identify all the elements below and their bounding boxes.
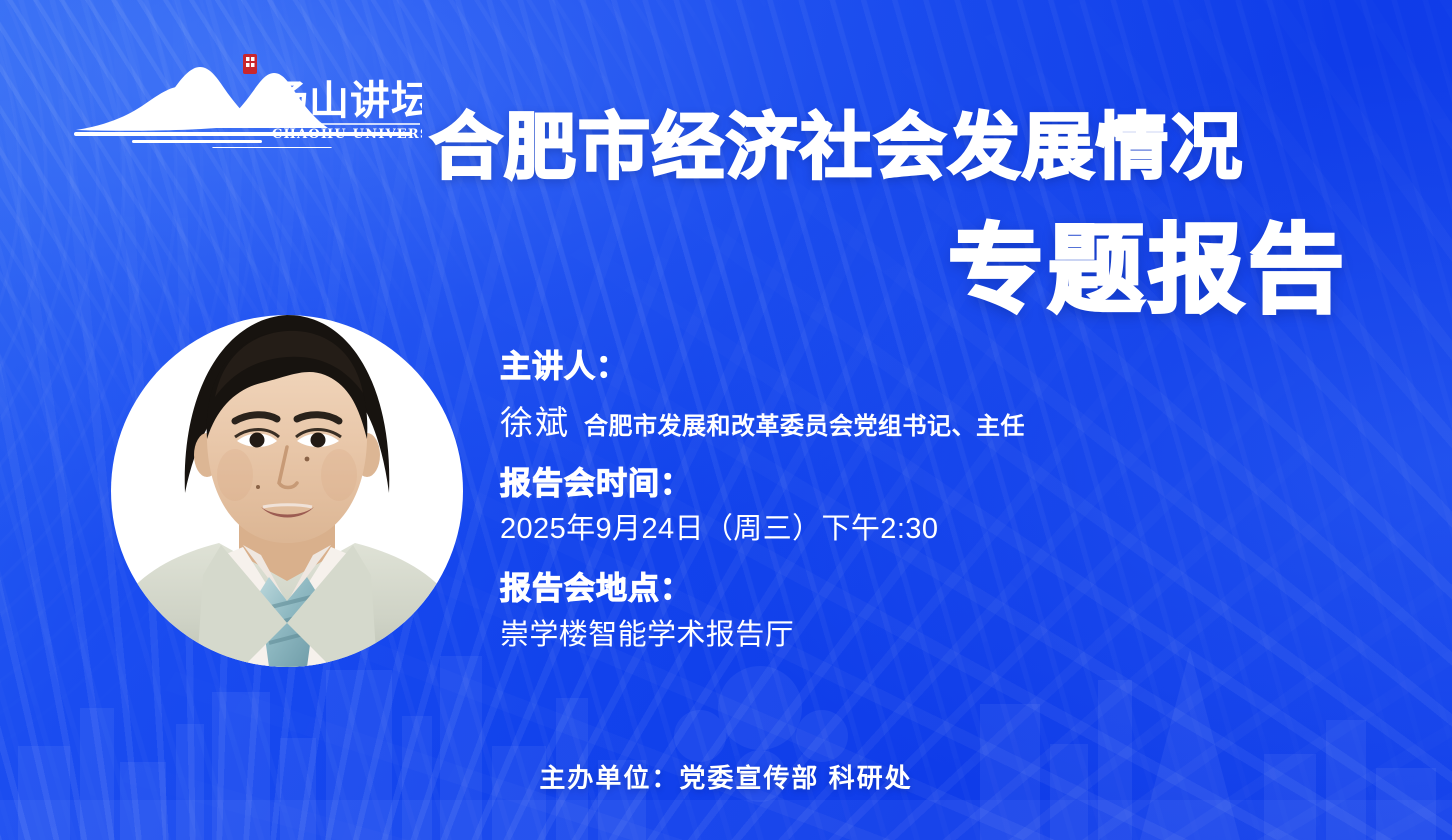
- brand-cn-text: 汤山讲坛: [268, 77, 422, 124]
- time-value: 2025年9月24日（周三）下午2:30: [500, 511, 1360, 549]
- details-block: 主讲人： 徐斌 合肥市发展和改革委员会党组书记、主任 报告会时间： 2025年9…: [500, 347, 1360, 654]
- place-label: 报告会地点：: [500, 569, 1360, 609]
- speaker-title: 合肥市发展和改革委员会党组书记、主任: [584, 406, 1025, 441]
- speaker-row: 徐斌 合肥市发展和改革委员会党组书记、主任: [500, 396, 1360, 444]
- time-label: 报告会时间：: [500, 464, 1360, 504]
- city-skyline-icon: [0, 650, 1452, 840]
- place-value: 崇学楼智能学术报告厅: [500, 617, 1360, 655]
- speaker-label: 主讲人：: [500, 347, 1360, 387]
- footer-block: 主办单位：党委宣传部 科研处: [0, 758, 1452, 795]
- brand-en-text: CHAOHU UNIVERSITY: [272, 127, 422, 142]
- organizer-text: 主办单位：党委宣传部 科研处: [539, 758, 912, 795]
- page-title: 合肥市经济社会发展情况: [430, 112, 1360, 185]
- speaker-portrait: [111, 225, 463, 667]
- headline-block: 合肥市经济社会发展情况 专题报告: [430, 112, 1360, 319]
- speaker-name: 徐斌: [500, 396, 570, 444]
- brand-logo: 汤山讲坛 CHAOHU UNIVERSITY: [72, 52, 422, 148]
- page-subtitle: 专题报告: [430, 223, 1360, 319]
- red-seal-icon: [243, 54, 257, 74]
- poster-canvas: 汤山讲坛 CHAOHU UNIVERSITY: [0, 0, 1452, 840]
